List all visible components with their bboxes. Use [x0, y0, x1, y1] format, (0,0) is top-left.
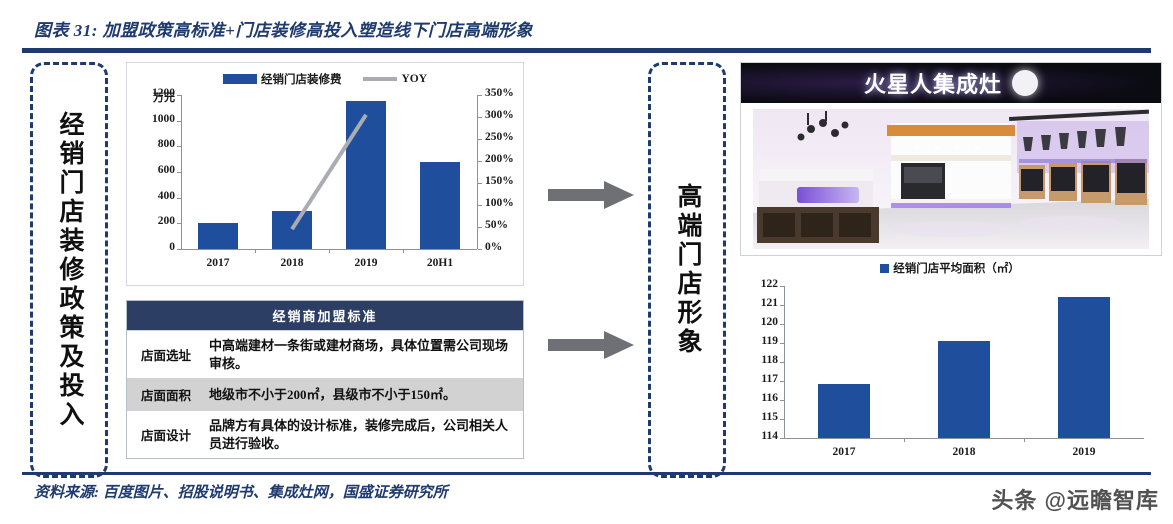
table-row-value: 中高端建材一条街或建材商场，具体位置需公司现场审核。: [205, 331, 523, 378]
y2-axis-tick-mark: [478, 95, 482, 96]
store-photo: 火星人集成灶: [740, 62, 1162, 256]
y-axis-tick-mark: [177, 146, 181, 147]
y2-axis-tick-mark: [478, 117, 482, 118]
y-axis-tick-mark: [780, 400, 784, 401]
source-note: 资料来源: 百度图片、招股说明书、集成灶网，国盛证券研究所: [34, 481, 448, 502]
x-axis-tick-label: 20H1: [406, 257, 474, 269]
footer-divider: [22, 472, 1151, 475]
store-signboard: 火星人集成灶: [741, 63, 1161, 103]
showroom-illustration: [741, 103, 1161, 255]
y-axis-tick-label: 116: [740, 392, 778, 404]
y-axis-tick-mark: [177, 95, 181, 96]
bar-2018: [272, 211, 312, 249]
flow-stage-middle-label: 高端门店形象: [673, 183, 701, 357]
y2-axis-tick-mark: [478, 249, 482, 250]
y-axis-tick-mark: [177, 249, 181, 250]
y-axis-tick-label: 118: [740, 354, 778, 366]
y-axis-tick-label: 1200: [129, 87, 175, 99]
y-axis-tick-mark: [780, 438, 784, 439]
arrow-right-icon-bottom: [548, 330, 634, 360]
y-axis-tick-label: 122: [740, 278, 778, 290]
x-axis-tick-label: 2018: [924, 446, 1004, 458]
y-axis-tick-label: 121: [740, 297, 778, 309]
x-axis-tick-label: 2019: [332, 257, 400, 269]
y-axis-tick-mark: [177, 223, 181, 224]
y2-axis-tick-label: 150%: [485, 175, 531, 187]
y2-axis-tick-mark: [478, 183, 482, 184]
franchise-standards-table: 经销商加盟标准 店面选址 中高端建材一条街或建材商场，具体位置需公司现场审核。 …: [126, 300, 524, 459]
x-axis-tick-label: 2017: [804, 446, 884, 458]
page-title: 图表 31: 加盟政策高标准+门店装修高投入塑造线下门店高端形象: [34, 16, 533, 41]
bar-20H1: [420, 162, 460, 249]
table-row-label: 店面选址: [127, 339, 205, 370]
y2-axis-tick-label: 250%: [485, 131, 531, 143]
y-axis-tick-mark: [780, 381, 784, 382]
y2-axis-tick-label: 50%: [485, 219, 531, 231]
x-axis-tick-mark: [1024, 438, 1025, 442]
y-axis-tick-label: 1000: [129, 113, 175, 125]
table-title: 经销商加盟标准: [127, 301, 523, 330]
y-axis-line: [784, 286, 785, 438]
y-axis-tick-label: 119: [740, 335, 778, 347]
y2-axis-tick-label: 300%: [485, 109, 531, 121]
y-axis-tick-label: 400: [129, 190, 175, 202]
y-axis-tick-label: 800: [129, 138, 175, 150]
x-axis-tick-mark: [904, 438, 905, 442]
x-axis-tick-label: 2019: [1044, 446, 1124, 458]
x-axis-tick-label: 2018: [258, 257, 326, 269]
store-sign-text: 火星人集成灶: [864, 67, 1002, 99]
x-axis-tick-label: 2017: [184, 257, 252, 269]
chart-average-store-area: 经销门店平均面积（㎡） 1141151161171181191201211222…: [740, 258, 1160, 472]
y-axis-tick-label: 115: [740, 411, 778, 423]
watermark-label: 头条 @远瞻智库: [991, 483, 1159, 515]
x-axis-tick-mark: [255, 249, 256, 253]
table-row: 店面面积 地级市不小于200㎡，县级市不小于150㎡。: [127, 378, 523, 410]
y-axis-left-line: [181, 95, 182, 249]
y-axis-tick-label: 120: [740, 316, 778, 328]
x-axis-tick-mark: [329, 249, 330, 253]
slide-canvas: 图表 31: 加盟政策高标准+门店装修高投入塑造线下门店高端形象 经销门店装修政…: [0, 0, 1173, 524]
table-row-label: 店面面积: [127, 379, 205, 410]
table-row-value: 地级市不小于200㎡，县级市不小于150㎡。: [205, 380, 523, 410]
y2-axis-tick-label: 350%: [485, 87, 531, 99]
y-axis-tick-label: 0: [129, 241, 175, 253]
y-axis-tick-mark: [780, 343, 784, 344]
table-row-value: 品牌方有具体的设计标准，装修完成后，公司相关人员进行验收。: [205, 411, 523, 458]
yoy-line: [127, 63, 523, 285]
y2-axis-tick-label: 0%: [485, 241, 531, 253]
y-axis-tick-mark: [780, 286, 784, 287]
y-axis-tick-mark: [177, 172, 181, 173]
y-axis-tick-mark: [780, 305, 784, 306]
mars-circle-logo-icon: [1012, 70, 1038, 96]
bar-2017: [818, 384, 870, 438]
bar-2019: [1058, 297, 1110, 438]
y2-axis-tick-mark: [478, 161, 482, 162]
y-axis-tick-mark: [177, 198, 181, 199]
y-axis-tick-mark: [780, 419, 784, 420]
y-axis-tick-mark: [780, 362, 784, 363]
y-axis-right-line: [477, 95, 478, 249]
flow-stage-left-label: 经销门店装修政策及投入: [55, 111, 83, 430]
y-axis-tick-label: 600: [129, 164, 175, 176]
table-row: 店面选址 中高端建材一条街或建材商场，具体位置需公司现场审核。: [127, 330, 523, 378]
plot-area-decoration: 0200400600800100012000%50%100%150%200%25…: [127, 63, 523, 285]
flow-stage-middle: 高端门店形象: [648, 62, 726, 478]
bar-2017: [198, 223, 238, 249]
showroom-interior: [741, 103, 1161, 255]
title-divider: [22, 48, 1151, 53]
y2-axis-tick-label: 100%: [485, 197, 531, 209]
y2-axis-tick-mark: [478, 139, 482, 140]
x-axis-line: [784, 438, 1144, 439]
y-axis-tick-label: 200: [129, 215, 175, 227]
table-row-label: 店面设计: [127, 419, 205, 450]
y-axis-tick-mark: [177, 121, 181, 122]
flow-stage-left: 经销门店装修政策及投入: [30, 62, 108, 478]
bar-2018: [938, 341, 990, 438]
table-row: 店面设计 品牌方有具体的设计标准，装修完成后，公司相关人员进行验收。: [127, 410, 523, 458]
plot-area-store-size: 114115116117118119120121122201720182019: [740, 258, 1160, 472]
y-axis-tick-label: 114: [740, 430, 778, 442]
y2-axis-tick-mark: [478, 205, 482, 206]
y2-axis-tick-label: 200%: [485, 153, 531, 165]
y2-axis-tick-mark: [478, 227, 482, 228]
arrow-right-icon-top: [548, 180, 634, 210]
x-axis-tick-mark: [403, 249, 404, 253]
chart-decoration-cost: 经销门店装修费 YOY 万元 0200400600800100012000%50…: [126, 62, 524, 286]
y-axis-tick-mark: [780, 324, 784, 325]
bar-2019: [346, 101, 386, 249]
y-axis-tick-label: 117: [740, 373, 778, 385]
